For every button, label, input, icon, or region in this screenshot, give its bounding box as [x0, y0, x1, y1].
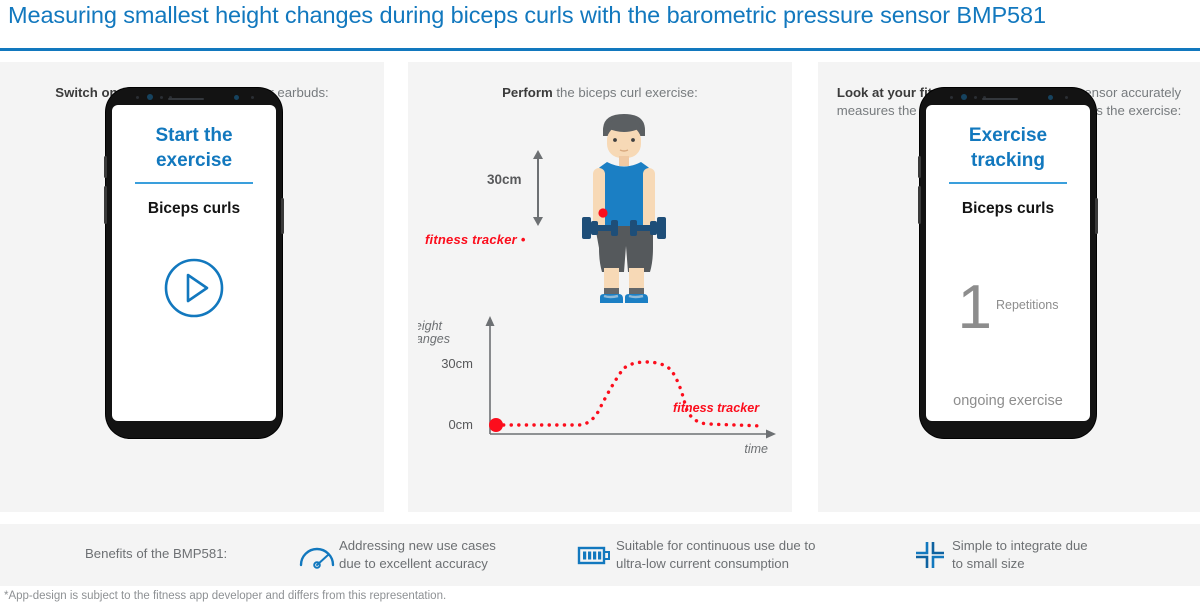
chart-series-fitness-tracker	[496, 362, 763, 426]
title-divider	[0, 48, 1200, 51]
measurement-label: 30cm	[487, 172, 522, 187]
earpiece-speaker-icon	[982, 98, 1018, 101]
phone-notch	[106, 88, 282, 105]
athlete-illustration	[566, 108, 682, 308]
phone-button-volume-down[interactable]	[918, 186, 921, 224]
height-changes-chart: height changes 30cm 0cm time fitness tra…	[418, 312, 784, 462]
earpiece-speaker-icon	[168, 98, 204, 101]
panel-2-caption: Perform the biceps curl exercise:	[426, 84, 774, 102]
chart-y-axis-arrow	[486, 316, 495, 326]
sensor-dot-icon	[251, 96, 254, 99]
chart-start-marker	[489, 418, 503, 432]
phone-button-power[interactable]	[281, 198, 284, 234]
benefit-item-accuracy: Addressing new use cases due to excellen…	[295, 537, 496, 573]
exercise-name: Biceps curls	[926, 200, 1090, 218]
play-button-icon[interactable]	[163, 257, 225, 319]
sensor-dot-icon	[160, 96, 163, 99]
sensor-dot-icon	[1048, 95, 1053, 100]
measurement-arrow-icon	[528, 150, 548, 226]
screen-divider	[949, 182, 1067, 184]
phone-screen-start[interactable]: Start the exercise Biceps curls	[112, 105, 276, 421]
chart-xlabel: time	[744, 442, 768, 456]
play-button-wrap	[112, 257, 276, 324]
front-camera-icon	[147, 94, 153, 100]
sensor-dot-icon	[950, 96, 953, 99]
chart-ytick-0cm: 0cm	[448, 417, 473, 432]
panel-2-caption-bold: Perform	[502, 85, 553, 100]
sensor-dot-icon	[974, 96, 977, 99]
exercise-name: Biceps curls	[112, 200, 276, 218]
crosshair-icon	[908, 540, 952, 570]
repetitions-label: Repetitions	[996, 298, 1059, 312]
chart-x-axis-arrow	[766, 430, 776, 439]
app-screen-title: Exercise tracking	[926, 123, 1090, 173]
benefit-text-accuracy: Addressing new use cases due to excellen…	[339, 537, 496, 573]
benefit-text-power: Suitable for continuous use due to ultra…	[616, 537, 815, 573]
benefit-text-size: Simple to integrate due to small size	[952, 537, 1088, 573]
benefit-line-2: due to excellent accuracy	[339, 555, 496, 573]
sensor-dot-icon	[1065, 96, 1068, 99]
gauge-icon	[295, 541, 339, 569]
chart-ylabel-line2: changes	[418, 332, 450, 346]
benefit-line-2: ultra-low current consumption	[616, 555, 815, 573]
phone-button-volume-up[interactable]	[104, 156, 107, 178]
phone-mockup-start: Start the exercise Biceps curls	[106, 88, 282, 438]
chart-ylabel-line1: height	[418, 319, 443, 333]
app-screen-title: Start the exercise	[112, 123, 276, 173]
phone-button-volume-up[interactable]	[918, 156, 921, 178]
chart-ytick-30cm: 30cm	[441, 356, 473, 371]
panel-2-caption-rest: the biceps curl exercise:	[553, 85, 698, 100]
benefit-line-2: to small size	[952, 555, 1088, 573]
benefits-bar: Benefits of the BMP581: Addressing new u…	[0, 524, 1200, 586]
screen-divider	[135, 182, 253, 184]
infographic-page: Measuring smallest height changes during…	[0, 0, 1200, 608]
benefits-label: Benefits of the BMP581:	[85, 546, 227, 561]
fitness-tracker-marker	[598, 208, 607, 217]
benefit-line-1: Suitable for continuous use due to	[616, 537, 815, 555]
chart-series-annotation: fitness tracker	[673, 401, 760, 415]
benefit-line-1: Addressing new use cases	[339, 537, 496, 555]
battery-icon	[572, 543, 616, 567]
phone-button-volume-down[interactable]	[104, 186, 107, 224]
sensor-dot-icon	[136, 96, 139, 99]
benefit-line-1: Simple to integrate due	[952, 537, 1088, 555]
fitness-tracker-callout: fitness tracker •	[425, 232, 525, 247]
phone-button-power[interactable]	[1095, 198, 1098, 234]
exercise-status: ongoing exercise	[926, 393, 1090, 409]
footnote: *App-design is subject to the fitness ap…	[4, 590, 446, 602]
front-camera-icon	[961, 94, 967, 100]
phone-mockup-tracking: Exercise tracking Biceps curls 1 Repetit…	[920, 88, 1096, 438]
phone-screen-tracking[interactable]: Exercise tracking Biceps curls 1 Repetit…	[926, 105, 1090, 421]
sensor-dot-icon	[234, 95, 239, 100]
benefit-item-power: Suitable for continuous use due to ultra…	[572, 537, 815, 573]
phone-notch	[920, 88, 1096, 105]
repetitions-display: 1 Repetitions	[926, 280, 1090, 336]
repetitions-count: 1	[957, 280, 989, 336]
benefit-item-size: Simple to integrate due to small size	[908, 537, 1088, 573]
page-title: Measuring smallest height changes during…	[8, 2, 1198, 29]
